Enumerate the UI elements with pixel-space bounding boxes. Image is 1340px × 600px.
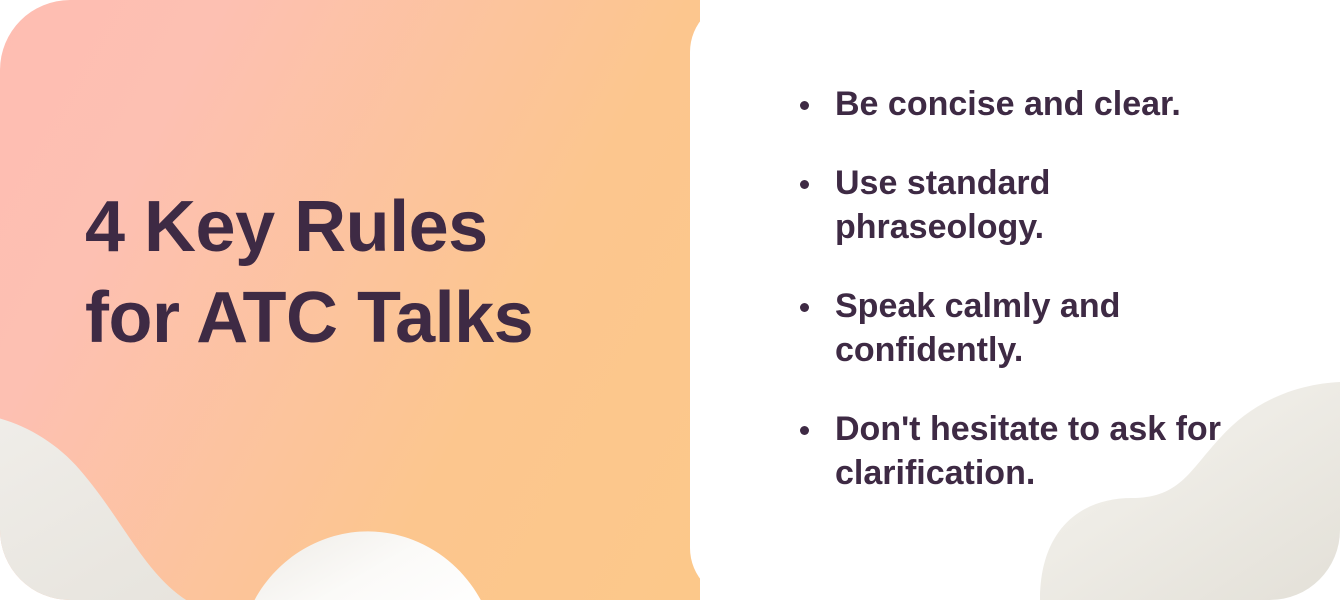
list-item-label: Speak calmly and confidently. <box>835 284 1260 373</box>
list-item: Speak calmly and confidently. <box>800 284 1260 373</box>
list-item: Be concise and clear. <box>800 82 1260 127</box>
rules-list: Be concise and clear. Use standard phras… <box>800 82 1260 496</box>
list-item: Use standard phraseology. <box>800 161 1260 250</box>
bullet-dot-icon <box>800 101 809 110</box>
poster-card: 4 Key Rules for ATC Talks Be concise and… <box>0 0 1340 600</box>
bullet-dot-icon <box>800 426 809 435</box>
page-title: 4 Key Rules for ATC Talks <box>85 182 685 363</box>
list-item-label: Use standard phraseology. <box>835 161 1260 250</box>
cloud-white-decoration <box>150 470 700 600</box>
bullet-dot-icon <box>800 180 809 189</box>
list-item: Don't hesitate to ask for clarification. <box>800 407 1260 496</box>
bullet-dot-icon <box>800 303 809 312</box>
list-item-label: Be concise and clear. <box>835 82 1260 127</box>
rules-card: Be concise and clear. Use standard phras… <box>690 0 1340 600</box>
list-item-label: Don't hesitate to ask for clarification. <box>835 407 1260 496</box>
